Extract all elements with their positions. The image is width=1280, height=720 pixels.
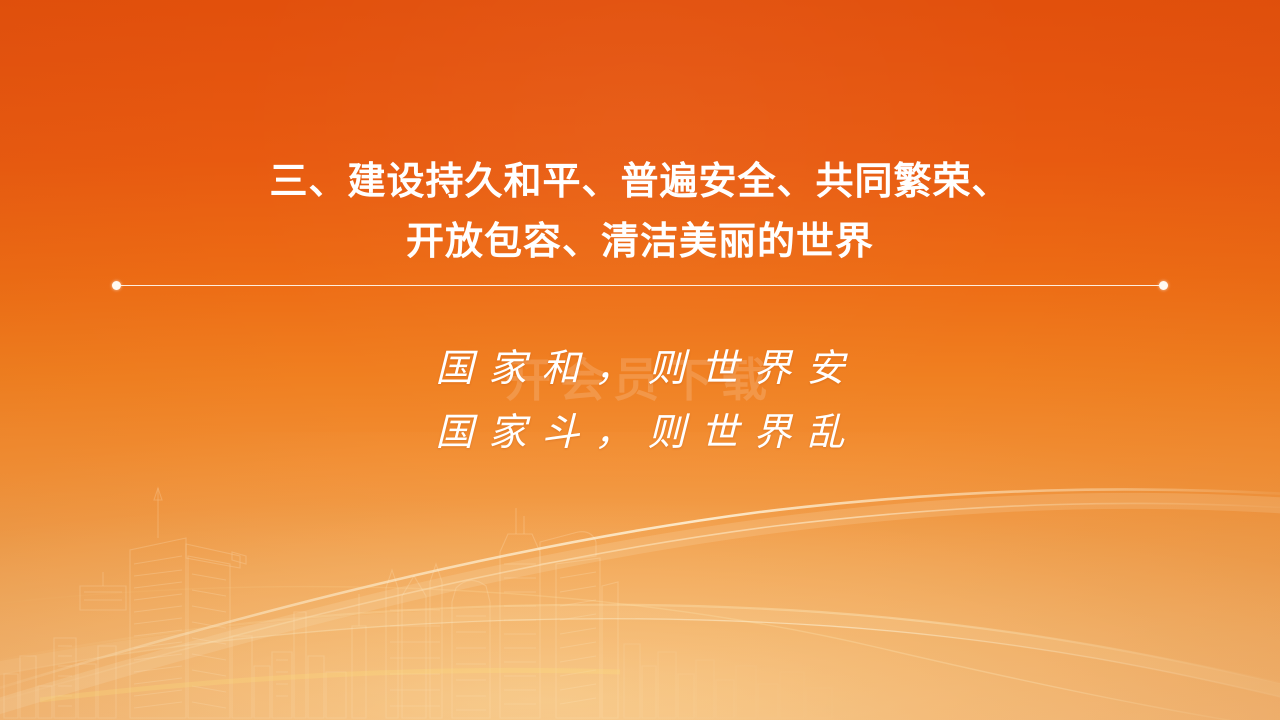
quote-line-2: 国家斗，则世界乱 xyxy=(0,400,1280,464)
divider-right-dot-icon xyxy=(1159,281,1168,290)
quote-block: 国家和，则世界安 国家斗，则世界乱 xyxy=(0,336,1280,464)
quote-line-1: 国家和，则世界安 xyxy=(0,336,1280,400)
background-glow xyxy=(0,432,1280,720)
page-title: 三、建设持久和平、普遍安全、共同繁荣、 开放包容、清洁美丽的世界 xyxy=(0,152,1280,272)
title-line-2: 开放包容、清洁美丽的世界 xyxy=(0,212,1280,272)
slide-canvas: 开会员下载 三、建设持久和平、普遍安全、共同繁荣、 开放包容、清洁美丽的世界 国… xyxy=(0,0,1280,720)
title-line-1: 三、建设持久和平、普遍安全、共同繁荣、 xyxy=(0,152,1280,212)
city-skyline-icon xyxy=(0,460,860,720)
divider-rule xyxy=(118,285,1162,286)
divider xyxy=(112,285,1168,287)
